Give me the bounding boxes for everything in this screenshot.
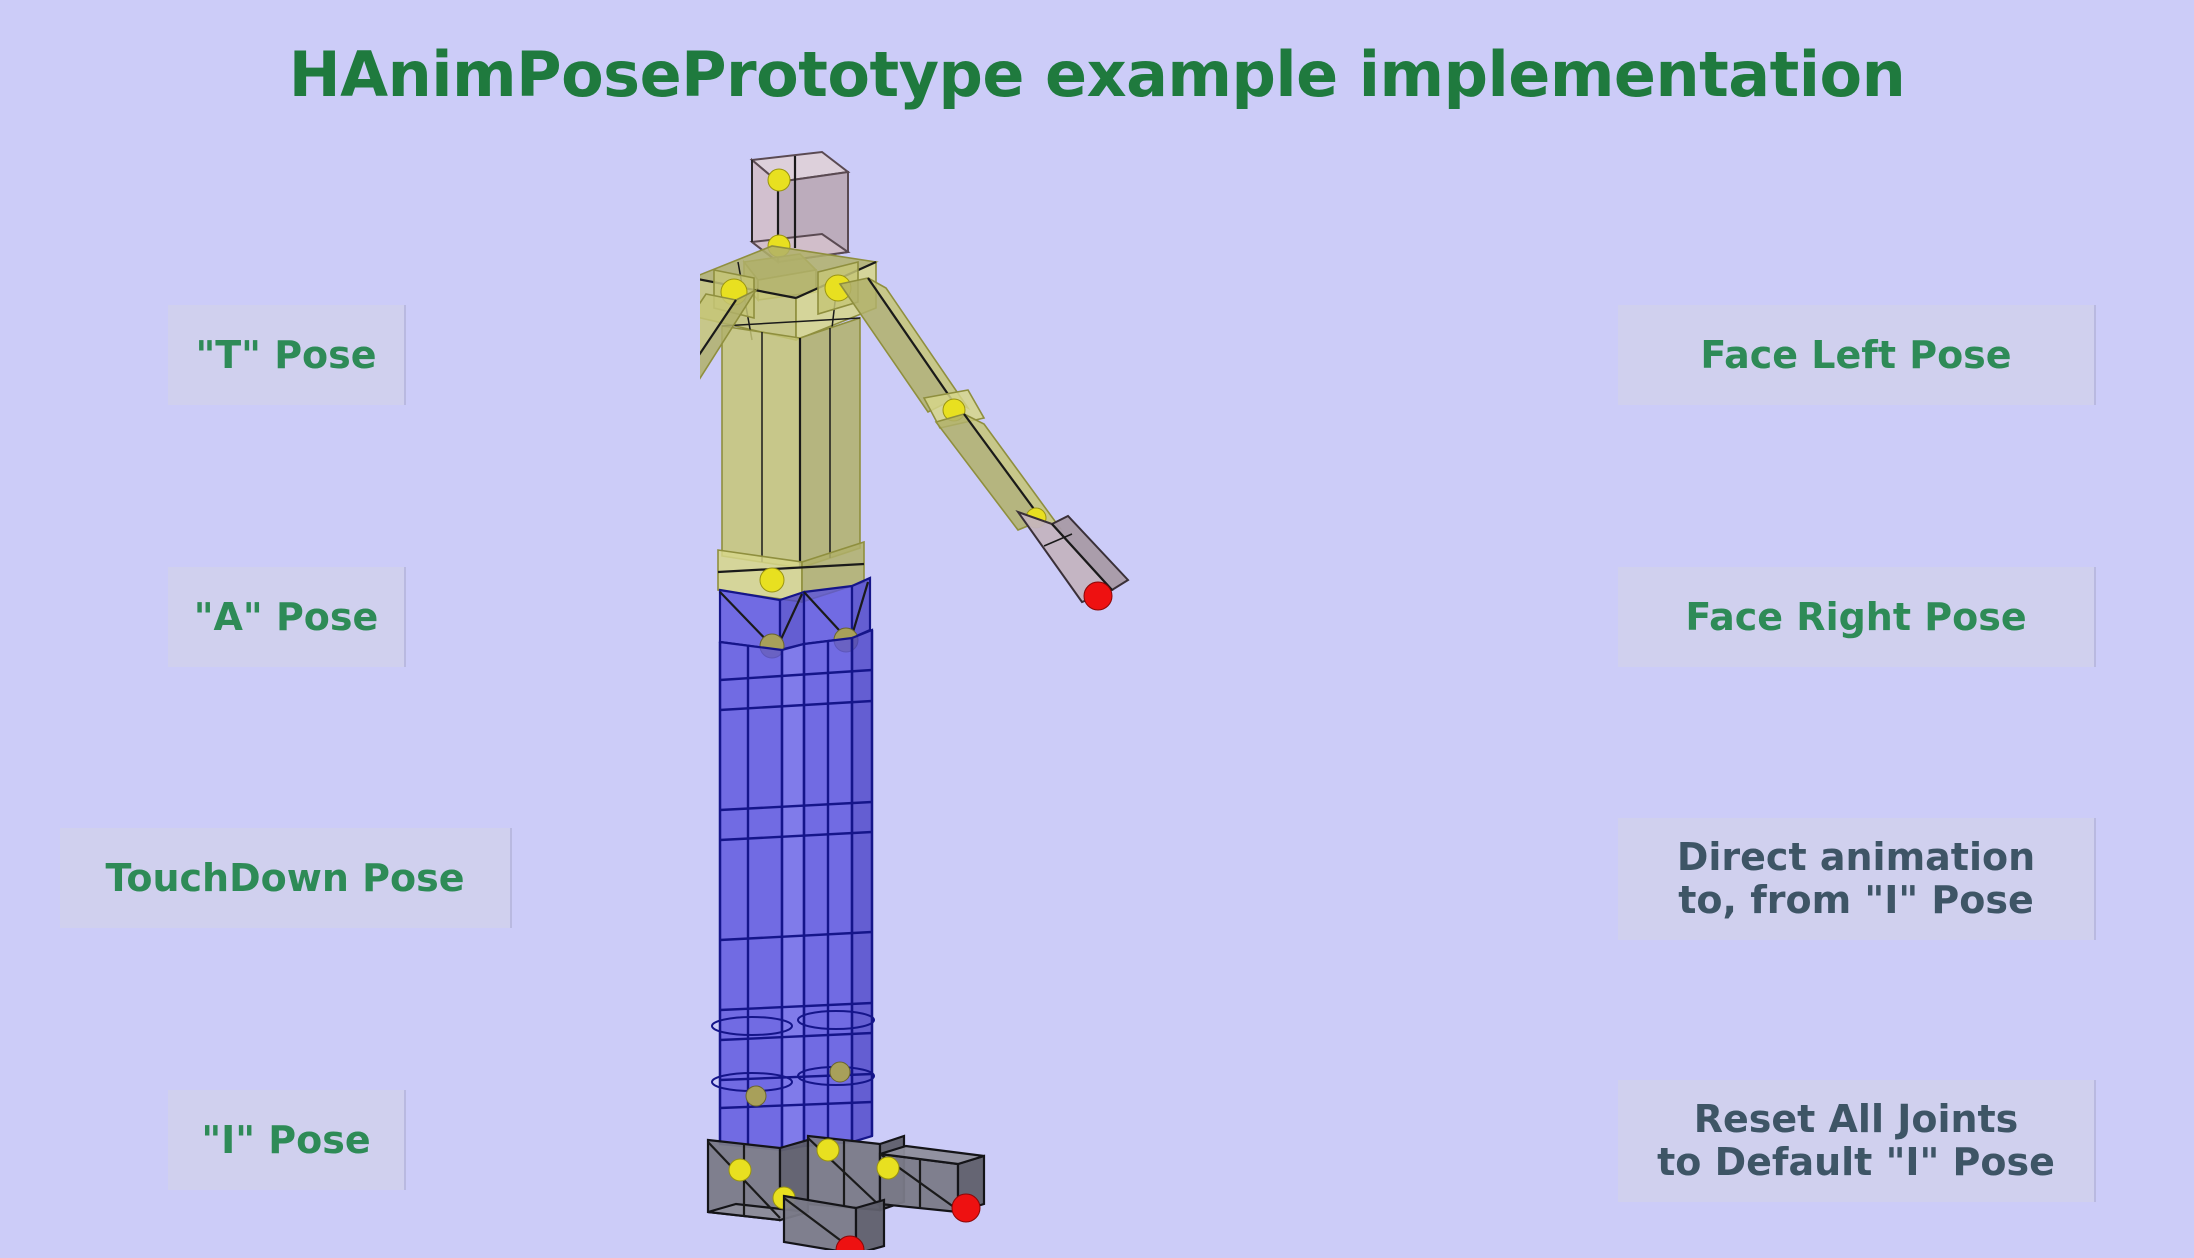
pose-button-face-left-pose[interactable]: Face Left Pose [1618,305,2096,405]
segment-feet [708,1136,984,1250]
segment-head [752,152,848,262]
pose-button-label: Face Left Pose [1700,334,2011,377]
pose-button-reset-all-joints[interactable]: Reset All Joints to Default "I" Pose [1618,1080,2096,1202]
pose-button-a-pose[interactable]: "A" Pose [168,567,406,667]
pose-button-label: "T" Pose [195,334,376,377]
marker-right-toe-tip [952,1194,980,1222]
segment-legs [712,578,874,1150]
segment-torso [718,318,864,602]
joint-right-ankle-upper [830,1062,850,1082]
joint-skull-top [768,169,790,191]
joint-sacroiliac [760,568,784,592]
pose-button-i-pose[interactable]: "I" Pose [168,1090,406,1190]
pose-button-label: "I" Pose [201,1119,370,1162]
pose-button-label: "A" Pose [194,596,379,639]
joint-left-ankle [729,1159,751,1181]
page-title: HAnimPosePrototype example implementatio… [0,38,2194,111]
pose-button-face-right-pose[interactable]: Face Right Pose [1618,567,2096,667]
joint-right-ankle [817,1139,839,1161]
pose-button-label: Reset All Joints to Default "I" Pose [1657,1098,2055,1183]
pose-button-label: Direct animation to, from "I" Pose [1677,836,2035,921]
segment-right-arm [840,278,1128,610]
humanoid-3d-viewport[interactable]: .wire { stroke:#1a1a1a; stroke-width:2.2… [700,150,1340,1250]
pose-button-direct-animation[interactable]: Direct animation to, from "I" Pose [1618,818,2096,940]
joint-left-ankle-upper [746,1086,766,1106]
joint-right-toe [877,1157,899,1179]
pose-button-label: Face Right Pose [1685,596,2026,639]
pose-button-t-pose[interactable]: "T" Pose [168,305,406,405]
pose-button-touchdown-pose[interactable]: TouchDown Pose [60,828,512,928]
pose-button-label: TouchDown Pose [106,857,465,900]
humanoid-skeleton[interactable]: .wire { stroke:#1a1a1a; stroke-width:2.2… [700,150,1340,1250]
marker-right-hand-tip [1084,582,1112,610]
